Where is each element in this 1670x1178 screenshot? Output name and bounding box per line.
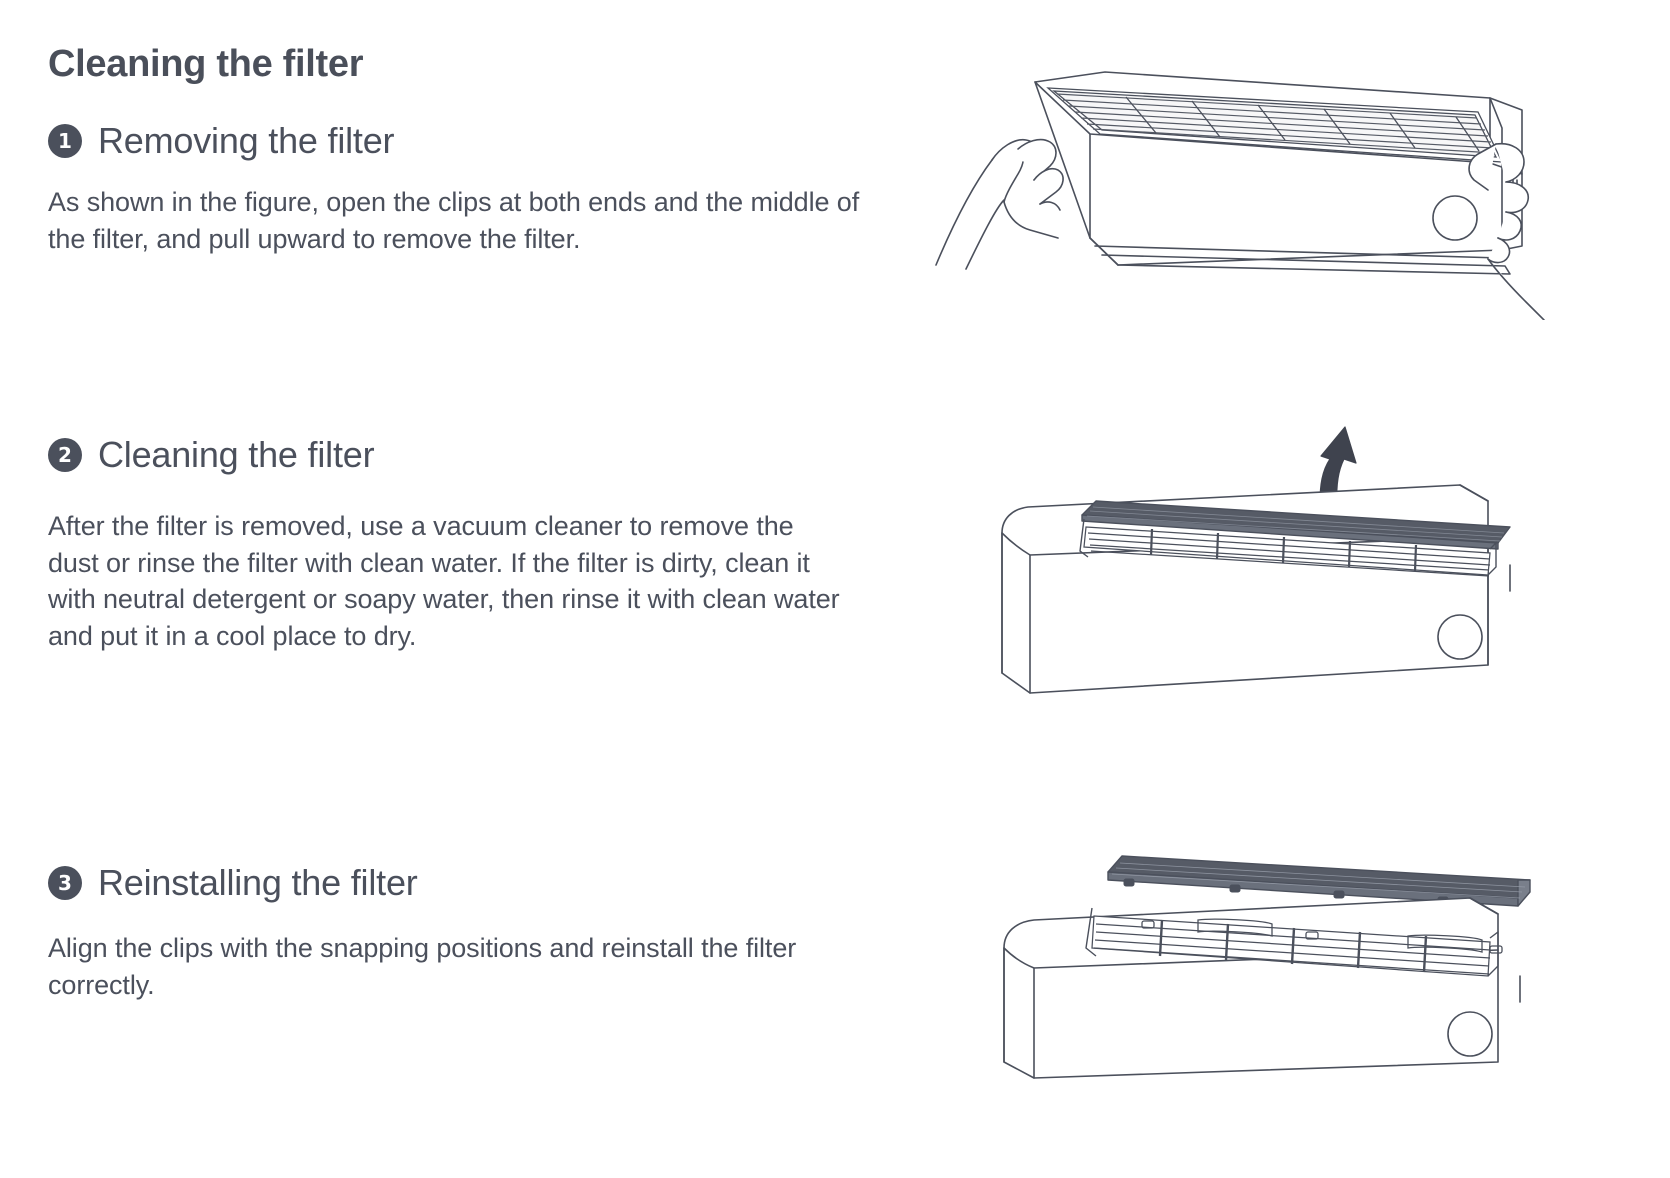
step-header-2: 2 Cleaning the filter [48,432,908,478]
step-section-1: 1 Removing the filter As shown in the fi… [48,118,908,284]
air-conditioner-hands-removing-filter-illustration [930,50,1550,320]
step-title-1: Removing the filter [98,120,394,162]
step-header-3: 3 Reinstalling the filter [48,860,908,906]
step-body-2: After the filter is removed, use a vacuu… [48,508,848,655]
step-body-3: Align the clips with the snapping positi… [48,930,878,1003]
air-conditioner-filter-detached-illustration [990,780,1550,1080]
step-number-badge-1: 1 [48,124,82,158]
manual-page: Cleaning the filter 1 Removing the filte… [0,0,1670,1178]
step-section-2: 2 Cleaning the filter After the filter i… [48,432,908,682]
step-body-1: As shown in the figure, open the clips a… [48,184,878,257]
air-conditioner-filter-lift-arrow-illustration [990,415,1550,695]
step-number-badge-3: 3 [48,866,82,900]
step-section-3: 3 Reinstalling the filter Align the clip… [48,860,908,1030]
step-header-1: 1 Removing the filter [48,118,908,164]
step-number-badge-2: 2 [48,438,82,472]
step-title-2: Cleaning the filter [98,434,374,476]
step-title-3: Reinstalling the filter [98,862,418,904]
page-title: Cleaning the filter [48,43,363,86]
